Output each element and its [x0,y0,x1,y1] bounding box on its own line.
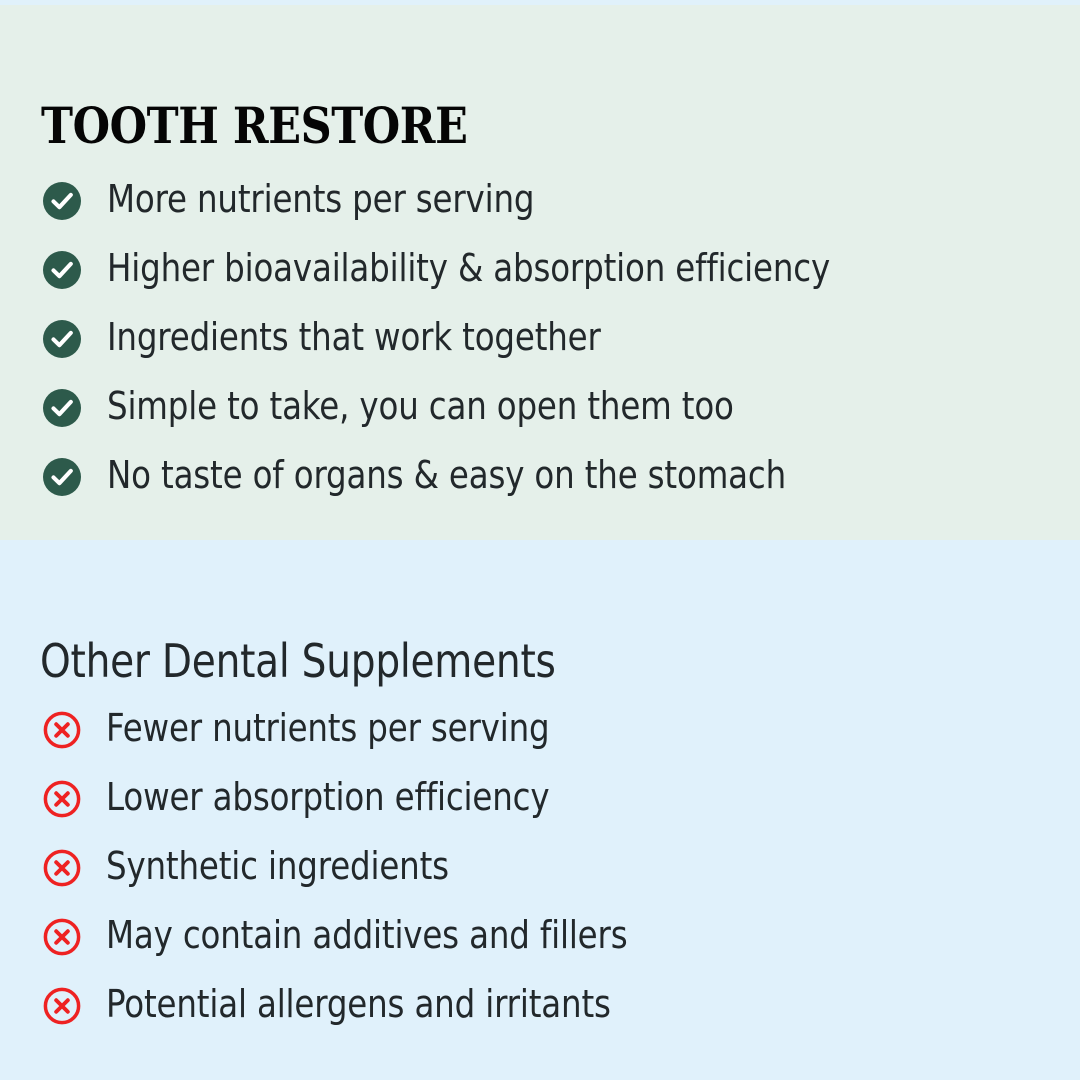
x-circle-icon [42,986,82,1026]
check-circle-icon [42,388,82,428]
list-item: Fewer nutrients per serving [0,707,1080,776]
list-item: Higher bioavailability & absorption effi… [0,247,1080,316]
comparison-card: TOOTH RESTORE More nutrients per serving [0,0,1080,1080]
benefit-label: Ingredients that work together [107,316,939,358]
product-title: TOOTH RESTORE [41,101,467,151]
list-item: Potential allergens and irritants [0,983,1080,1052]
drawback-label: May contain additives and fillers [106,914,939,956]
check-circle-icon [42,181,82,221]
list-item: No taste of organs & easy on the stomach [0,454,1080,523]
check-circle-icon [42,457,82,497]
list-item: Simple to take, you can open them too [0,385,1080,454]
x-circle-icon [42,779,82,819]
list-item: Synthetic ingredients [0,845,1080,914]
benefit-label: Simple to take, you can open them too [107,385,939,427]
list-item: Ingredients that work together [0,316,1080,385]
x-circle-icon [42,917,82,957]
x-circle-icon [42,710,82,750]
drawback-label: Synthetic ingredients [106,845,939,887]
benefit-label: No taste of organs & easy on the stomach [107,454,939,496]
drawbacks-list: Fewer nutrients per serving Lower absorp… [0,707,1080,1052]
drawback-label: Fewer nutrients per serving [106,707,939,749]
list-item: More nutrients per serving [0,178,1080,247]
x-circle-icon [42,848,82,888]
drawback-label: Lower absorption efficiency [106,776,939,818]
benefits-list: More nutrients per serving Higher bioava… [0,178,1080,523]
product-benefits-panel: TOOTH RESTORE More nutrients per serving [0,5,1080,540]
benefit-label: More nutrients per serving [107,178,939,220]
check-circle-icon [42,250,82,290]
list-item: Lower absorption efficiency [0,776,1080,845]
drawback-label: Potential allergens and irritants [106,983,939,1025]
other-supplements-title: Other Dental Supplements [40,634,556,688]
list-item: May contain additives and fillers [0,914,1080,983]
check-circle-icon [42,319,82,359]
benefit-label: Higher bioavailability & absorption effi… [107,247,939,289]
